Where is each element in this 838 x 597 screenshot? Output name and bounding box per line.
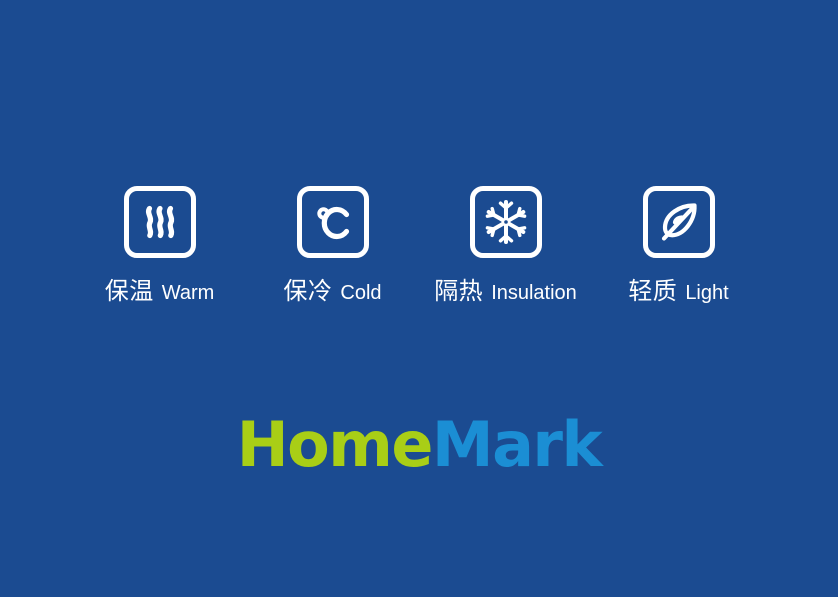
promo-banner: 保温 Warm 保冷 Cold (0, 0, 838, 597)
feature-list: 保温 Warm 保冷 Cold (0, 186, 838, 304)
light-icon-frame (643, 186, 715, 258)
feature-label-cn: 保冷 (283, 280, 332, 304)
feather-icon (656, 199, 702, 245)
brand-logo-home: Home (237, 408, 432, 481)
feature-label-cn: 保温 (105, 280, 154, 304)
insulation-icon-frame (470, 186, 542, 258)
feature-label-en: Light (685, 283, 728, 303)
feature-item-insulation: 隔热 Insulation (419, 186, 592, 304)
snowflake-icon (483, 199, 529, 245)
celsius-degree-icon (310, 199, 356, 245)
feature-label-light: 轻质 Light (628, 280, 728, 304)
feature-label-warm: 保温 Warm (105, 280, 215, 304)
brand-logo-mark: Mark (432, 408, 601, 481)
brand-logo: HomeMark (0, 414, 838, 476)
feature-item-cold: 保冷 Cold (246, 186, 419, 304)
feature-label-cn: 轻质 (628, 280, 677, 304)
feature-item-warm: 保温 Warm (73, 186, 246, 304)
feature-label-insulation: 隔热 Insulation (434, 280, 577, 304)
heat-waves-icon (137, 199, 183, 245)
feature-label-en: Warm (162, 283, 215, 303)
feature-label-en: Cold (340, 283, 381, 303)
feature-item-light: 轻质 Light (592, 186, 765, 304)
warm-icon-frame (124, 186, 196, 258)
feature-label-cn: 隔热 (434, 280, 483, 304)
feature-label-en: Insulation (491, 283, 577, 303)
cold-icon-frame (297, 186, 369, 258)
feature-label-cold: 保冷 Cold (283, 280, 381, 304)
